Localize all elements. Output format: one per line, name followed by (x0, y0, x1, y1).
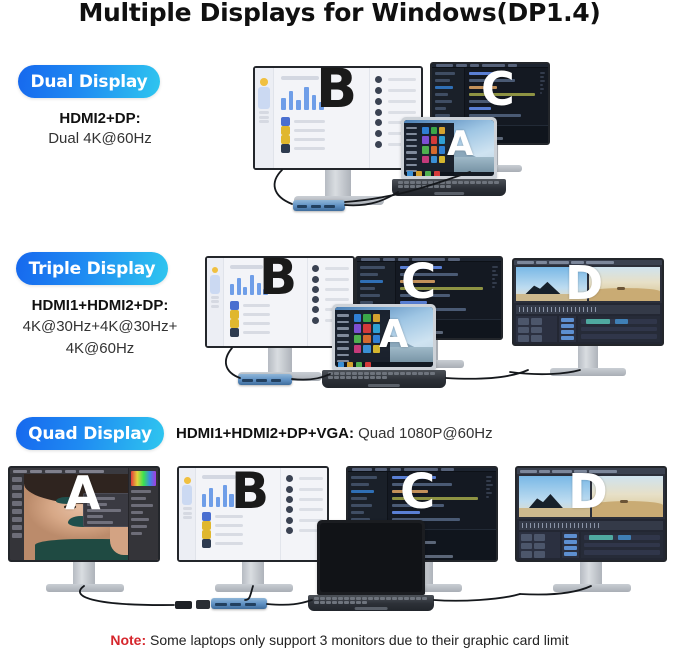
laptop-base-quad (308, 595, 434, 611)
list-item (375, 87, 417, 94)
spec-dual-resolution: Dual 4K@60Hz (0, 130, 200, 147)
hub-ports (215, 603, 255, 607)
timeline-lane (581, 327, 657, 332)
timeline-lane (581, 334, 657, 339)
list-item (281, 144, 364, 153)
stand-neck-b-dual (325, 170, 351, 198)
list-item (202, 530, 276, 539)
list-item (312, 286, 349, 293)
photo-right-panel (128, 468, 158, 562)
usb-hub-dual[interactable] (293, 200, 345, 211)
laptop-keyboard (398, 181, 500, 188)
timeline-lane (581, 319, 657, 324)
screen-letter-a-quad: A (65, 470, 101, 516)
spec-quad: HDMI1+HDMI2+DP+VGA: Quad 1080P@60Hz (176, 425, 596, 443)
start-menu-list (335, 310, 351, 367)
screen-letter-a-triple: A (379, 315, 408, 353)
hub-ports (242, 379, 281, 383)
screen-letter-a-dual: A (447, 127, 473, 161)
list-item (375, 109, 417, 116)
stand-base-b-quad (215, 584, 293, 592)
rail-card (258, 87, 269, 109)
media-bin (519, 532, 560, 558)
stand-neck-a-quad (73, 562, 95, 586)
laptop-base-a-triple (322, 370, 446, 388)
list-item (230, 319, 303, 328)
screen-letter-c-dual: C (481, 66, 515, 112)
list-item (375, 76, 417, 83)
screen-letter-c-quad: C (400, 468, 435, 516)
screen-laptop-quad (320, 523, 422, 592)
cable-b-to-hub-dual (275, 170, 292, 204)
stand-base-d-triple (550, 368, 626, 376)
dashboard-rail (179, 468, 196, 560)
list-item (202, 521, 276, 530)
badge-triple-display: Triple Display (16, 252, 168, 285)
spec-quad-ports: HDMI1+HDMI2+DP+VGA: (176, 425, 354, 442)
editor-minimap (486, 476, 494, 525)
timeline-lane (584, 543, 660, 548)
list-item (230, 328, 303, 337)
stand-neck-d-quad (580, 562, 602, 586)
editor-minimap (540, 72, 546, 121)
list-item (286, 506, 323, 513)
hub-ports (297, 205, 334, 209)
timeline-clip (586, 319, 610, 324)
screen-letter-c-triple: C (401, 258, 436, 306)
user-avatar-icon (184, 477, 191, 484)
screen-letter-b-dual: B (316, 62, 357, 116)
screen-letter-b-quad: B (231, 466, 269, 516)
cable-hub-to-laptop-quad (267, 600, 312, 605)
user-avatar-icon (212, 267, 219, 274)
screen-letter-d-triple: D (565, 260, 603, 306)
spec-triple-resolution-2: 4K@60Hz (0, 338, 200, 360)
dashboard-rows (230, 301, 303, 337)
laptop-quad (317, 520, 425, 595)
stand-neck-b-quad (242, 562, 264, 586)
list-item (312, 296, 349, 303)
list-item (375, 98, 417, 105)
spec-triple-ports: HDMI1+HDMI2+DP: (0, 297, 200, 314)
dashboard-rows (281, 117, 364, 153)
laptop-trackpad (368, 384, 400, 387)
footer-note: Note: Some laptops only support 3 monito… (0, 632, 679, 648)
start-menu-list (404, 123, 419, 176)
page-title: Multiple Displays for Windows(DP1.4) (0, 0, 679, 27)
laptop-trackpad (355, 607, 388, 610)
timeline-lanes (581, 532, 663, 558)
laptop-lid (317, 520, 425, 595)
timeline-lanes (578, 316, 660, 342)
timeline-clip (618, 535, 632, 540)
effects-panel (562, 532, 579, 558)
timeline-clip (589, 535, 613, 540)
photo-toolbar (10, 474, 24, 560)
color-picker-icon (131, 471, 156, 486)
list-item (202, 539, 276, 548)
usb-hub-triple[interactable] (238, 374, 292, 385)
timeline-tracks (516, 316, 660, 342)
cable-plug-quad (196, 600, 210, 609)
rail-card (210, 275, 220, 294)
list-item (286, 475, 323, 482)
stand-neck-b-triple (268, 348, 292, 374)
user-avatar-icon (260, 78, 268, 86)
screen-letter-d-quad: D (568, 468, 608, 516)
dashboard-rail (207, 258, 224, 346)
spec-quad-resolution: Quad 1080P@60Hz (354, 425, 493, 442)
timeline-lane (584, 550, 660, 555)
screen-letter-b-triple: B (259, 252, 297, 302)
video-timeline (517, 519, 665, 560)
timeline-clip (615, 319, 629, 324)
list-item (286, 486, 323, 493)
hub-connector-quad (175, 601, 192, 609)
editor-minimap (492, 266, 499, 315)
laptop-trackpad (434, 192, 464, 195)
cable-laptop-to-d-triple (446, 370, 528, 379)
badge-dual-display: Dual Display (18, 65, 160, 98)
badge-quad-display: Quad Display (16, 417, 164, 450)
list-item (312, 276, 349, 283)
taskbar (404, 172, 494, 176)
stand-base-d-quad (553, 584, 631, 592)
spec-triple: HDMI1+HDMI2+DP: 4K@30Hz+4K@30Hz+ 4K@60Hz (0, 297, 200, 360)
timeline-tracks (519, 532, 663, 558)
taskbar (335, 362, 433, 367)
rail-card (182, 485, 192, 505)
stand-base-a-quad (46, 584, 124, 592)
spec-dual-ports: HDMI2+DP: (0, 110, 200, 127)
laptop-keyboard (328, 372, 440, 380)
laptop-base-a-dual (392, 179, 506, 196)
spec-dual: HDMI2+DP: Dual 4K@60Hz (0, 110, 200, 147)
timeline-ruler (519, 521, 663, 530)
dashboard-rail (255, 68, 274, 168)
effects-panel (559, 316, 576, 342)
list-item (286, 496, 323, 503)
usb-hub-quad[interactable] (211, 598, 267, 609)
stand-neck-d-triple (578, 346, 598, 370)
timeline-lane (584, 535, 660, 540)
note-text: Some laptops only support 3 monitors due… (146, 632, 569, 648)
list-item (281, 135, 364, 144)
spec-triple-resolution-1: 4K@30Hz+4K@30Hz+ (0, 316, 200, 338)
media-bin (516, 316, 557, 342)
list-item (230, 310, 303, 319)
infographic-page: Multiple Displays for Windows(DP1.4) Dua… (0, 0, 679, 659)
note-label: Note: (110, 632, 146, 648)
list-item (312, 265, 349, 272)
cable-laptop-to-c-quad (434, 594, 520, 601)
list-item (281, 126, 364, 135)
laptop-keyboard (314, 597, 428, 604)
